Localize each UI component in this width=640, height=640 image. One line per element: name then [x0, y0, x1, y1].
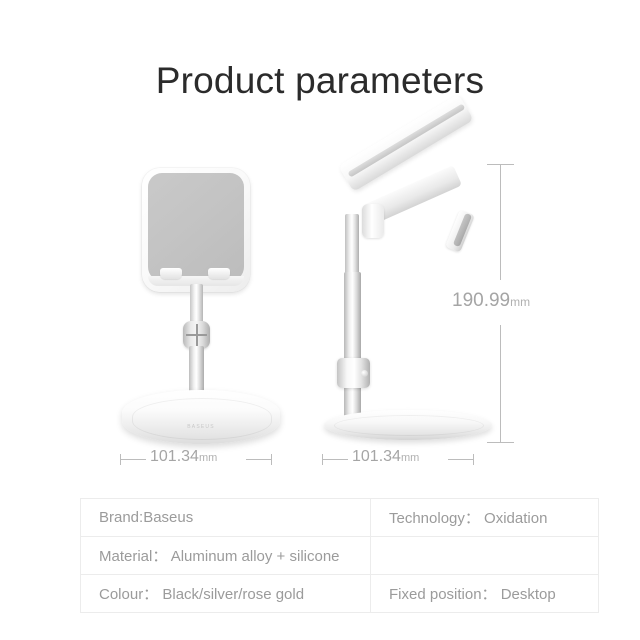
side-width-label: 101.34mm [352, 448, 419, 466]
front-width-label: 101.34mm [150, 448, 217, 466]
height-dimension-unit: mm [510, 295, 530, 309]
table-row: Material： Aluminum alloy + silicone [81, 537, 599, 575]
spec-cell-material: Material： Aluminum alloy + silicone [81, 537, 371, 575]
side-width-line-left [322, 459, 348, 460]
height-dimension-value: 190.99 [452, 290, 510, 311]
front-width-line-left [120, 459, 146, 460]
side-hinge-block [362, 204, 384, 238]
front-width-line-right [246, 459, 272, 460]
height-dimension-line-lower [500, 325, 501, 442]
side-base-inner-outline [334, 415, 484, 436]
spec-cell-fixed-position: Fixed position： Desktop [371, 575, 599, 613]
front-width-endcap-right [271, 454, 272, 465]
front-plate-face [148, 173, 244, 281]
front-width-dimension: 101.34mm [120, 448, 272, 472]
product-parameters-page: Product parameters BASEUS [0, 0, 640, 640]
height-dimension-tick-bottom [487, 442, 514, 443]
spec-cell-brand: Brand:Baseus [81, 499, 371, 537]
page-title: Product parameters [0, 60, 640, 102]
side-width-value: 101.34 [352, 448, 401, 465]
front-adjustment-knob [183, 321, 210, 349]
side-width-unit: mm [401, 452, 419, 464]
spec-table: Brand:Baseus Technology： Oxidation Mater… [80, 498, 599, 613]
front-width-unit: mm [199, 452, 217, 464]
front-pole-upper [190, 284, 203, 324]
side-arm-group [340, 156, 490, 286]
side-collar-screw-icon [361, 370, 368, 377]
side-pole-upper [345, 214, 359, 276]
side-width-line-right [448, 459, 474, 460]
side-width-dimension: 101.34mm [322, 448, 474, 472]
side-width-endcap-right [473, 454, 474, 465]
brand-logo-text: BASEUS [166, 424, 236, 430]
height-dimension-label: 190.99mm [452, 290, 530, 312]
phone-stand-front-view: BASEUS [112, 150, 292, 450]
front-support-lip-left [160, 268, 182, 279]
spec-cell-empty [371, 537, 599, 575]
front-base-inner-outline [132, 398, 272, 440]
table-row: Brand:Baseus Technology： Oxidation [81, 499, 599, 537]
table-row: Colour： Black/silver/rose gold Fixed pos… [81, 575, 599, 613]
side-pole-lower [344, 272, 361, 424]
spec-cell-technology: Technology： Oxidation [371, 499, 599, 537]
product-illustration-stage: BASEUS [0, 140, 640, 470]
spec-cell-colour: Colour： Black/silver/rose gold [81, 575, 371, 613]
front-width-value: 101.34 [150, 448, 199, 465]
front-support-lip-right [208, 268, 230, 279]
height-dimension-line-upper [500, 165, 501, 280]
